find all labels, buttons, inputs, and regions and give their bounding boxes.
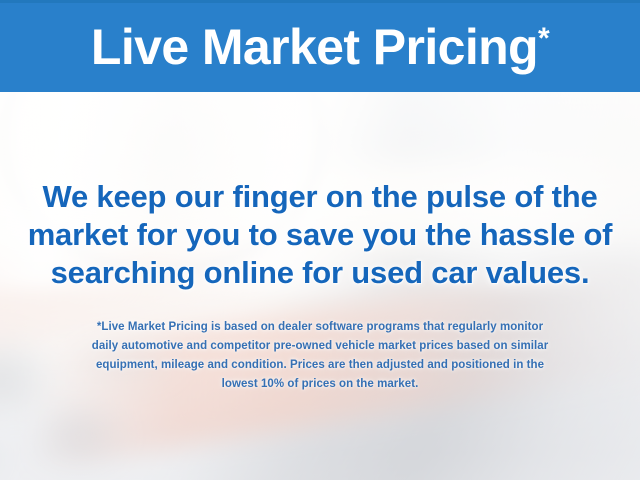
headline: We keep our finger on the pulse of the m… bbox=[0, 178, 640, 292]
header-band: Live Market Pricing* bbox=[0, 0, 640, 92]
disclaimer-line-4: lowest 10% of prices on the market. bbox=[0, 375, 640, 394]
disclaimer-line-3: equipment, mileage and condition. Prices… bbox=[0, 356, 640, 375]
disclaimer-line-2: daily automotive and competitor pre-owne… bbox=[0, 337, 640, 356]
disclaimer: *Live Market Pricing is based on dealer … bbox=[0, 318, 640, 394]
page-title-asterisk: * bbox=[538, 22, 549, 55]
headline-line-2: market for you to save you the hassle of bbox=[0, 216, 640, 254]
headline-line-3: searching online for used car values. bbox=[0, 254, 640, 292]
headline-line-1: We keep our finger on the pulse of the bbox=[0, 178, 640, 216]
page-title-text: Live Market Pricing bbox=[91, 19, 538, 75]
page-title: Live Market Pricing* bbox=[91, 22, 549, 72]
disclaimer-line-1: *Live Market Pricing is based on dealer … bbox=[0, 318, 640, 337]
live-market-pricing-banner: Live Market Pricing* We keep our finger … bbox=[0, 0, 640, 480]
